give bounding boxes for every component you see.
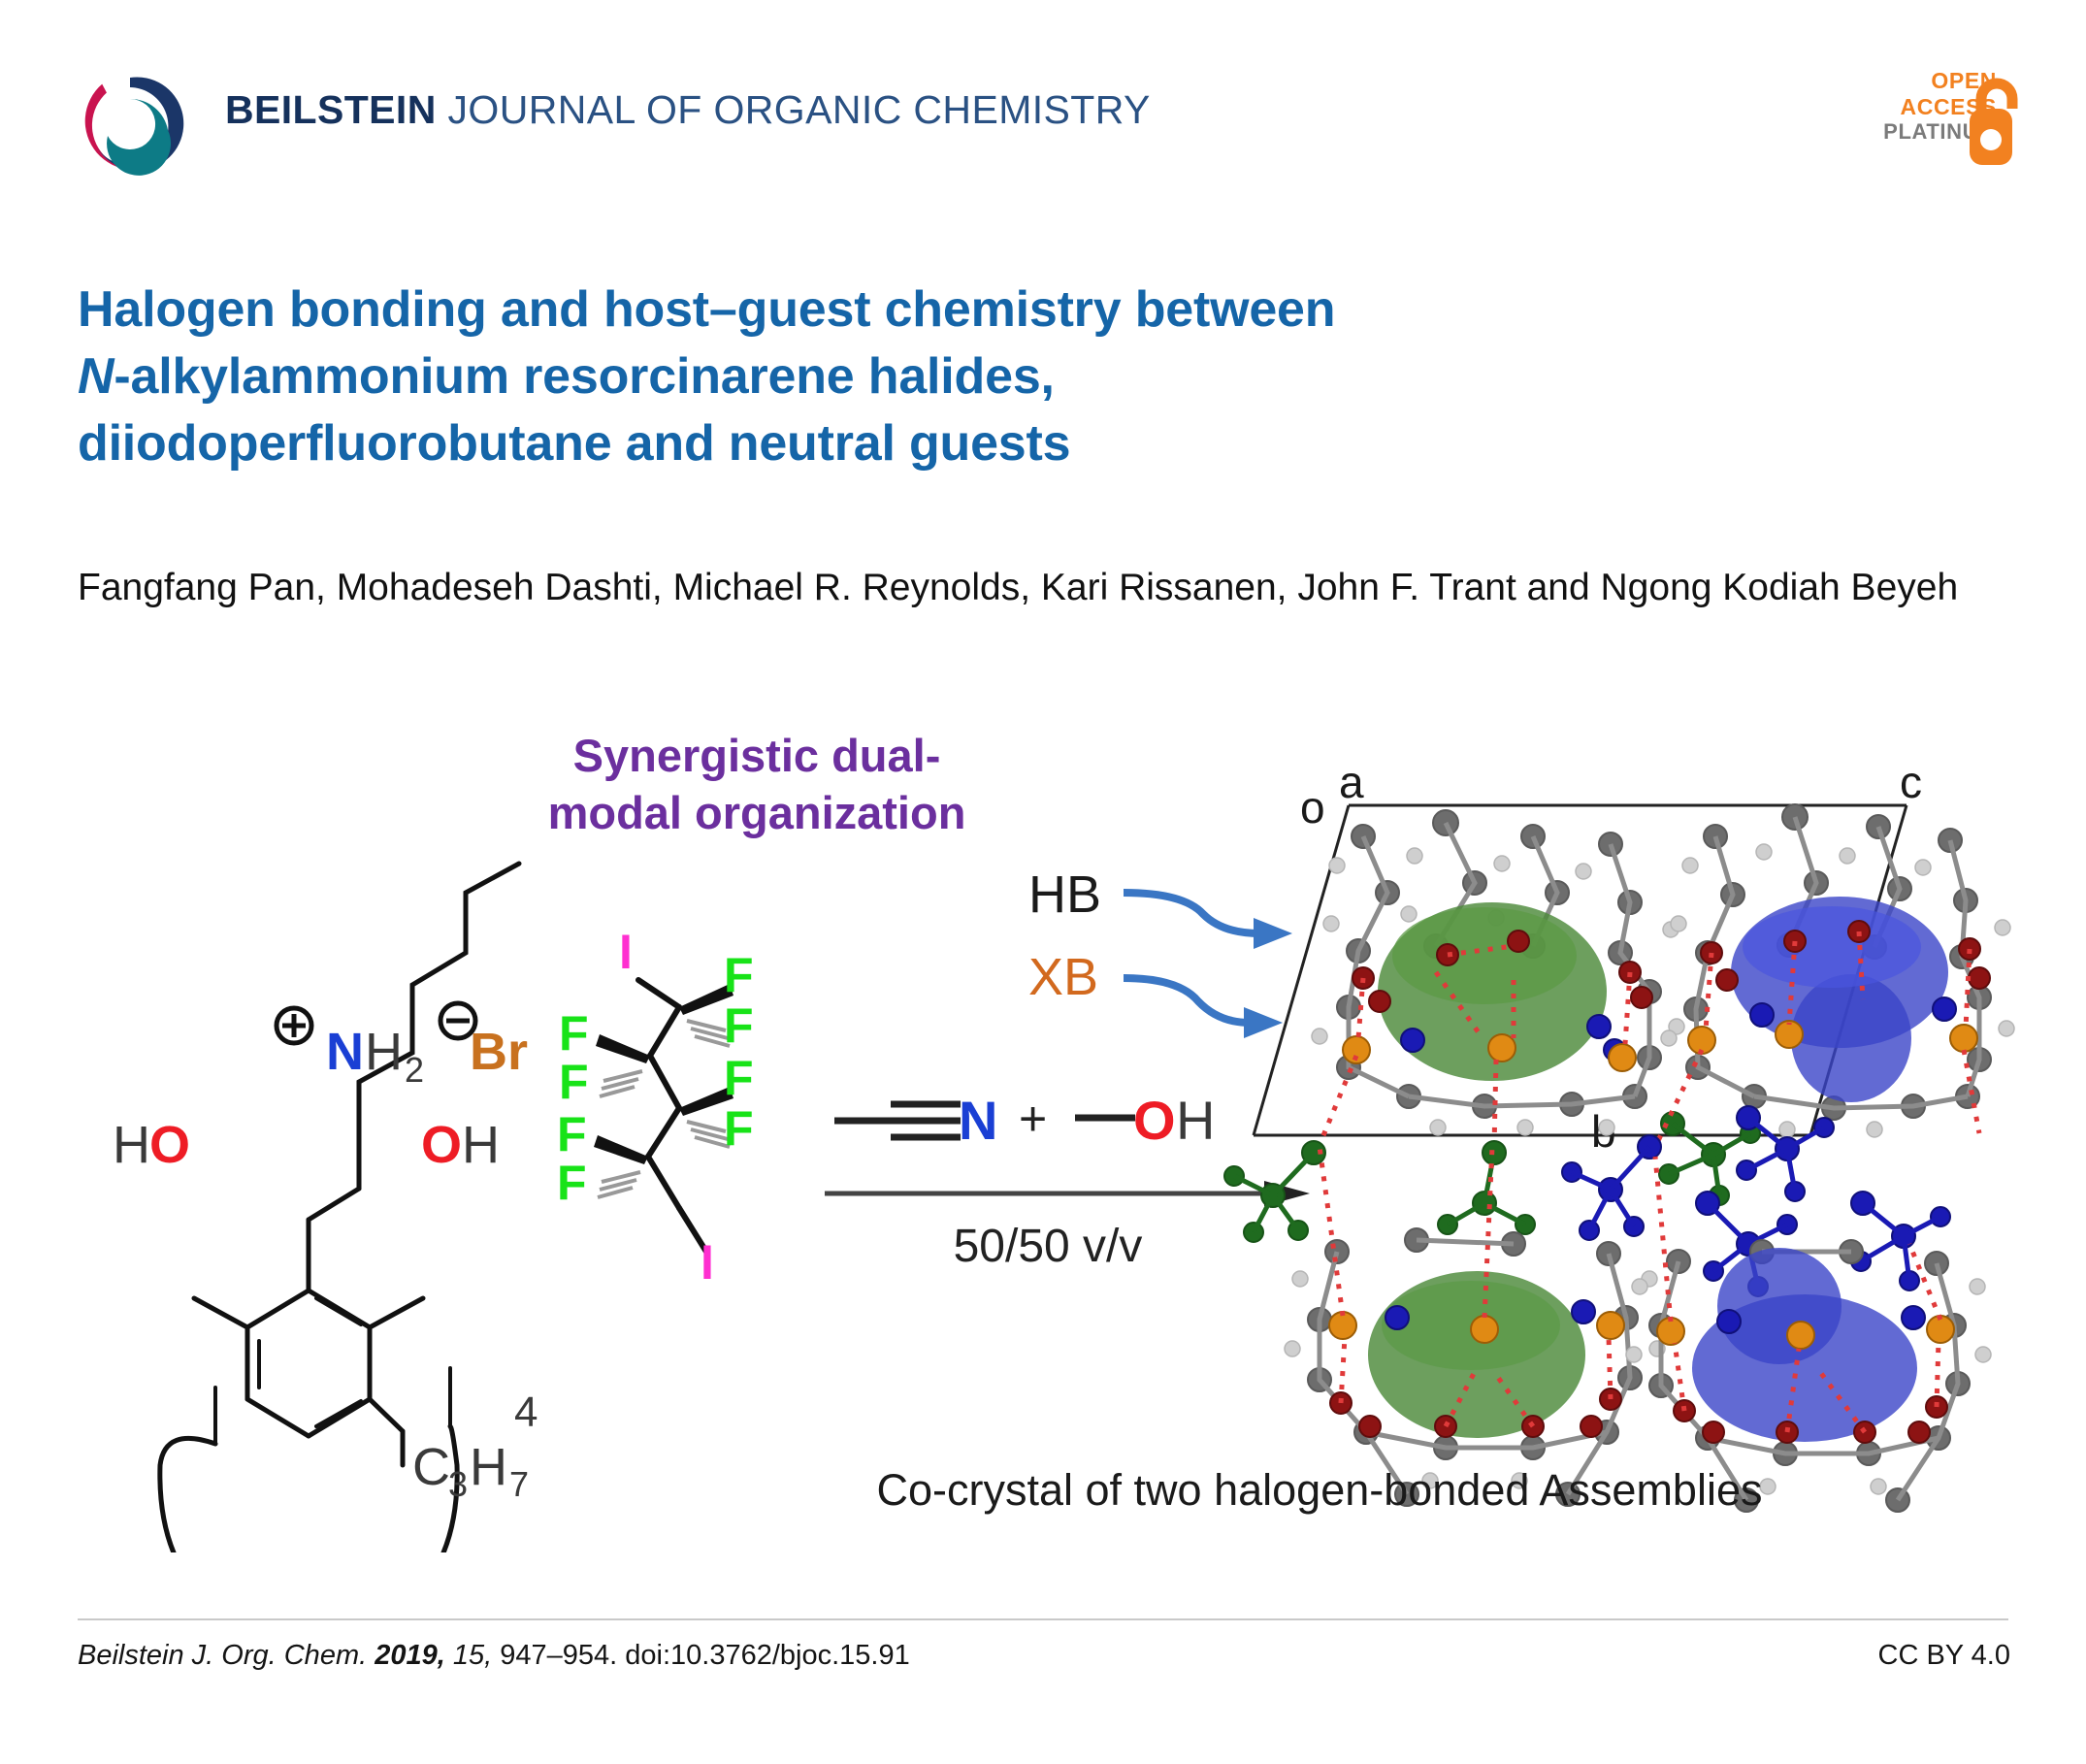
label-fluorine-3: F — [559, 1006, 589, 1061]
label-fluorine-7: F — [557, 1107, 587, 1161]
article-title-line-3: diiodoperfluorobutane and neutral guests — [78, 410, 1756, 477]
citation-volume: 15, — [445, 1640, 492, 1671]
page-header: BEILSTEIN JOURNAL OF ORGANIC CHEMISTRY O… — [0, 0, 2086, 184]
label-reaction-conditions: 50/50 v/v — [954, 1221, 1143, 1272]
hb-arrow-line — [1124, 893, 1259, 933]
article-authors: Fangfang Pan, Mohadeseh Dashti, Michael … — [78, 561, 1979, 614]
label-right-hydroxyl-h: H — [462, 1116, 500, 1174]
label-plus: + — [1019, 1092, 1047, 1146]
label-fluorine-5: F — [724, 1051, 754, 1105]
cavity-surface-green-lower — [1368, 1271, 1585, 1438]
abstract-caption: Co-crystal of two halogen-bonded Assembl… — [737, 1465, 1902, 1516]
label-nitrile-nitrogen: N — [959, 1090, 997, 1151]
assembly-blue-upper — [1655, 804, 2014, 1147]
label-nitrogen-h-subscript: 2 — [405, 1050, 424, 1090]
footer-license: CC BY 4.0 — [1878, 1640, 2010, 1672]
article-title-italic-n: N — [78, 348, 114, 405]
label-repeat-index: 4 — [514, 1388, 538, 1436]
label-fluorine-8: F — [557, 1156, 587, 1210]
hb-arrow-head — [1254, 918, 1292, 949]
journal-title-rest: JOURNAL OF ORGANIC CHEMISTRY — [437, 87, 1151, 132]
assembly-green-upper — [1312, 810, 1684, 1147]
label-right-hydroxyl-o: O — [421, 1116, 462, 1174]
label-fluorine-2: F — [724, 998, 754, 1053]
xb-arrow-head — [1244, 1007, 1283, 1038]
label-nitrogen: N — [326, 1023, 364, 1081]
graphical-abstract: N H 2 Br H O O H 4 C 3 H 7 — [58, 747, 2028, 1552]
footer-citation: Beilstein J. Org. Chem. 2019, 15, 947–95… — [78, 1640, 910, 1672]
label-propyl-sub-7: 7 — [509, 1464, 529, 1504]
journal-title: BEILSTEIN JOURNAL OF ORGANIC CHEMISTRY — [225, 87, 1151, 133]
ammonium-charge-icon — [277, 1008, 311, 1043]
article-title-line-2-rest: -alkylammonium resorcinarene halides, — [114, 348, 1054, 405]
label-iodine-top: I — [619, 925, 633, 979]
cavity-surface-blue-upper — [1731, 897, 1948, 1102]
article-title: Halogen bonding and host–guest chemistry… — [78, 277, 1756, 477]
label-nitrogen-hydrogens: H — [365, 1023, 403, 1081]
hb-xb-callouts: HB XB — [1028, 866, 1292, 1038]
xb-arrow-line — [1124, 978, 1250, 1023]
open-padlock-icon — [1968, 70, 2028, 167]
citation-year: 2019, — [367, 1640, 445, 1671]
label-left-hydroxyl-o: O — [149, 1116, 190, 1174]
xb-donor-structure — [638, 980, 706, 1252]
label-methanol-oxygen: O — [1133, 1090, 1176, 1151]
axis-label-c: c — [1900, 757, 1922, 807]
label-propyl-sub-3: 3 — [448, 1464, 468, 1504]
beilstein-logo-icon — [76, 70, 184, 179]
label-iodine-bottom: I — [701, 1235, 714, 1290]
abstract-headline: Synergistic dual-modal organization — [534, 728, 980, 842]
label-bromide: Br — [470, 1023, 528, 1081]
label-methanol-hydrogen: H — [1176, 1090, 1215, 1151]
journal-title-bold: BEILSTEIN — [225, 87, 437, 132]
axis-label-a: a — [1339, 757, 1364, 807]
label-fluorine-6: F — [724, 1101, 754, 1156]
label-hb: HB — [1028, 866, 1101, 924]
axis-label-origin: o — [1300, 782, 1325, 833]
label-fluorine-1: F — [724, 948, 754, 1002]
article-title-line-2: N-alkylammonium resorcinarene halides, — [78, 343, 1756, 410]
citation-pages-doi: 947–954. doi:10.3762/bjoc.15.91 — [492, 1640, 910, 1671]
label-left-hydroxyl-h: H — [113, 1116, 150, 1174]
crystal-packing-illustration: o a c b — [1224, 757, 2014, 1512]
citation-journal: Beilstein J. Org. Chem. — [78, 1640, 367, 1671]
label-propyl-c: C — [412, 1438, 450, 1496]
label-fluorine-4: F — [559, 1055, 589, 1109]
article-title-line-1: Halogen bonding and host–guest chemistry… — [78, 277, 1756, 343]
footer-divider — [78, 1618, 2008, 1620]
label-xb: XB — [1028, 948, 1098, 1006]
host-structure-diagram — [160, 864, 519, 1552]
label-propyl-h: H — [470, 1438, 507, 1496]
